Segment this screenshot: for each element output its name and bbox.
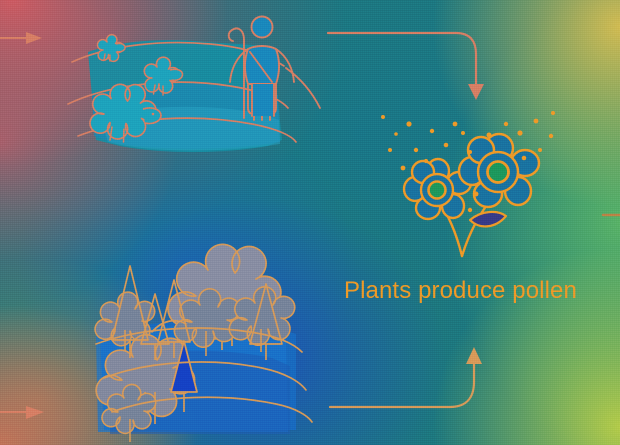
caption-plants-produce-pollen: Plants produce pollen — [344, 277, 577, 305]
arrow-edge-left-top — [0, 32, 42, 44]
arrow-edge-left-bottom — [0, 406, 44, 419]
arrows-layer — [0, 0, 620, 445]
arrow-bottom-curved-up — [330, 347, 482, 407]
arrow-top-curved-down — [328, 33, 484, 100]
illustration-canvas: Plants produce pollen — [0, 0, 620, 445]
